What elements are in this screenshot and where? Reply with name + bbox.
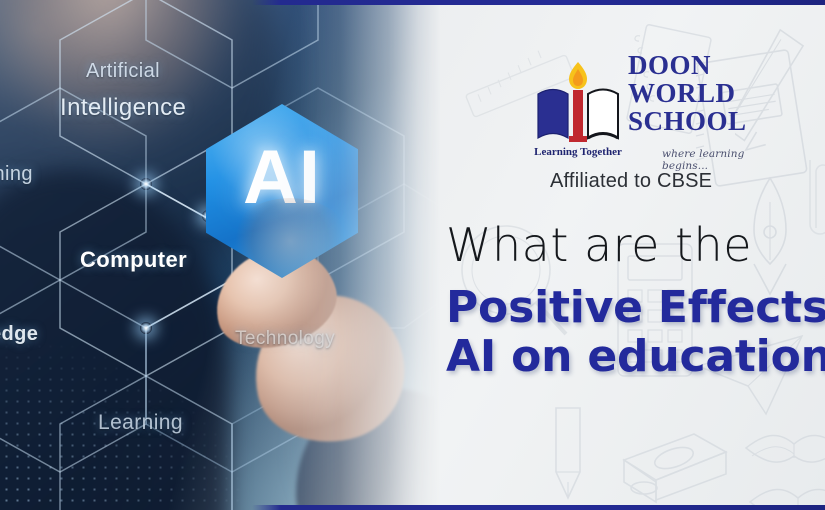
headline-line-1: What are the (446, 222, 825, 269)
school-name-line-3: SCHOOL (628, 108, 747, 136)
torch-shaft (573, 90, 583, 138)
headline-block: What are the Positive Effects of AI on e… (446, 222, 825, 380)
cbse-affiliation-text: Affiliated to CBSE (550, 170, 712, 193)
headline-line-2: Positive Effects of (446, 285, 825, 332)
crest-motto: Learning Together (534, 146, 622, 158)
photo-edge-fade (0, 0, 440, 510)
bottom-navy-rule (252, 505, 825, 510)
torch-base (569, 136, 587, 142)
book-left-page (538, 90, 568, 139)
school-name-line-1: DOON (628, 52, 747, 80)
headline-line-3: AI on education? (446, 334, 825, 381)
book-right-page (588, 90, 618, 139)
open-book-doodle (742, 462, 825, 510)
flame-icon (569, 62, 587, 89)
top-navy-rule (252, 0, 825, 5)
hand-touching-ai-hexagon-interface: AI Artificial Intelligence oning Compute… (0, 0, 440, 510)
ai-education-banner: AI Artificial Intelligence oning Compute… (0, 0, 825, 510)
school-name: DOON WORLD SCHOOL (628, 52, 747, 135)
school-logo-block[interactable]: Learning Together DOON WORLD SCHOOL wher… (528, 48, 778, 196)
school-name-line-2: WORLD (628, 80, 747, 108)
logo-row: Learning Together DOON WORLD SCHOOL (528, 48, 778, 160)
pencil-doodle (526, 404, 616, 510)
open-book-with-torch-icon: Learning Together (534, 56, 622, 160)
school-tagline: where learning begins... (662, 148, 778, 172)
